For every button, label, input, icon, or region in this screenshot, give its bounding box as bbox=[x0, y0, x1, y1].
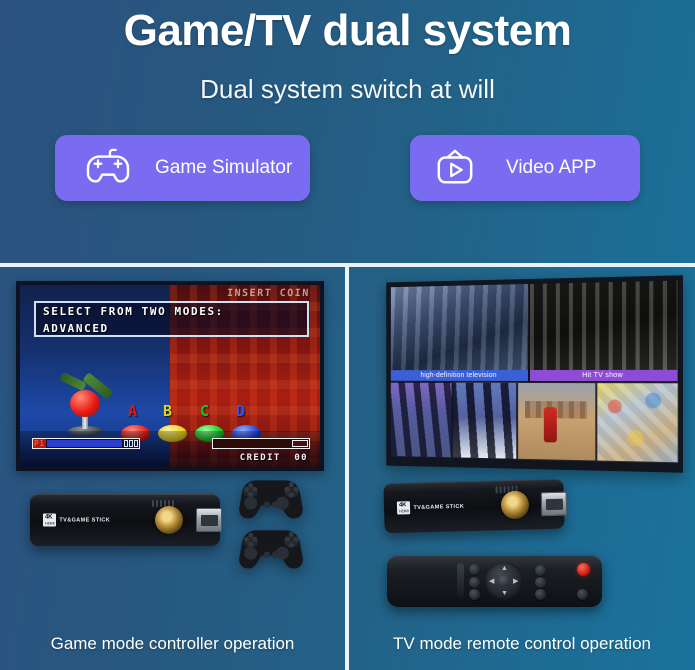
remote-key-apps bbox=[535, 589, 546, 600]
arcade-letter-c: C bbox=[200, 402, 209, 420]
game-tv-stick-device: 4K HDMI TV&GAME STICK bbox=[30, 494, 220, 546]
credit-text: CREDIT 00 bbox=[240, 453, 308, 463]
remote-key-mic bbox=[469, 564, 480, 575]
tile-dance-show-2 bbox=[452, 382, 517, 460]
dpad-left-arrow: ◀ bbox=[489, 578, 494, 585]
stick-model-name: TV&GAME STICK bbox=[413, 503, 464, 510]
arcade-hud: P1 CREDIT 00 bbox=[20, 431, 320, 467]
page-subtitle: Dual system switch at will bbox=[0, 74, 695, 105]
dpad-up-arrow: ▲ bbox=[501, 565, 508, 572]
player-health-bar: P1 bbox=[32, 438, 140, 449]
credit-bar bbox=[212, 438, 310, 449]
tile-label-hit-tv-show: Hit TV show bbox=[530, 370, 678, 381]
tv-play-icon bbox=[432, 148, 478, 188]
video-app-button[interactable]: Video APP bbox=[410, 135, 640, 201]
resolution-badge: 4K HDMI bbox=[43, 514, 56, 527]
tile-high-definition-television: high-definition television bbox=[390, 283, 529, 382]
arcade-letter-d: D bbox=[236, 402, 245, 420]
joystick-ball bbox=[70, 390, 100, 417]
stick-badge: 4K HDMI TV&GAME STICK bbox=[43, 514, 110, 527]
flat-tv-screen: high-definition television Hit TV show bbox=[386, 275, 683, 472]
tv-remote-control: ▲ ◀ ▶ ▼ bbox=[387, 555, 602, 607]
game-panel-caption: Game mode controller operation bbox=[0, 634, 345, 654]
tv-panel-caption: TV mode remote control operation bbox=[349, 634, 695, 654]
mode-select-line-2: ADVANCED bbox=[36, 320, 307, 337]
badge-bottom-text: HDMI bbox=[45, 522, 54, 526]
stick-lens bbox=[501, 491, 530, 520]
power-button-icon bbox=[577, 563, 590, 576]
tv-mode-panel: high-definition television Hit TV show 4… bbox=[349, 267, 695, 670]
dpad-down-arrow: ▼ bbox=[501, 590, 508, 597]
wireless-controller-2 bbox=[232, 525, 310, 573]
remote-key-settings bbox=[577, 589, 588, 600]
gamepad-icon bbox=[85, 148, 131, 188]
player-health-ticks bbox=[124, 440, 138, 447]
stick-lens bbox=[155, 506, 183, 534]
tile-hit-tv-show: Hit TV show bbox=[529, 280, 679, 383]
hdmi-connector bbox=[196, 508, 222, 532]
stick-badge: 4K HDMI TV&GAME STICK bbox=[397, 500, 464, 515]
video-app-label: Video APP bbox=[506, 157, 597, 179]
arcade-letter-b: B bbox=[163, 402, 172, 420]
badge-bottom-text: HDMI bbox=[399, 509, 409, 513]
tile-art-graffiti bbox=[596, 382, 679, 463]
tv-stick-device: 4K HDMI TV&GAME STICK bbox=[383, 479, 564, 534]
game-mode-panel: INSERT COIN SELECT FROM TWO MODES: ADVAN… bbox=[0, 267, 345, 670]
game-simulator-button[interactable]: Game Simulator bbox=[55, 135, 310, 201]
tile-basketball-game bbox=[517, 382, 596, 461]
credit-value: 00 bbox=[294, 453, 308, 463]
tile-label-hdtv: high-definition television bbox=[391, 370, 528, 381]
arcade-letter-a: A bbox=[128, 402, 137, 420]
game-simulator-label: Game Simulator bbox=[155, 157, 292, 179]
remote-key-power-toggle bbox=[469, 589, 480, 600]
remote-key-back bbox=[535, 577, 546, 588]
wireless-controller-1 bbox=[232, 475, 310, 523]
player-health-fill bbox=[47, 440, 122, 447]
tile-dance-show-1 bbox=[390, 382, 452, 458]
remote-key-home bbox=[535, 565, 546, 576]
hdmi-connector bbox=[541, 492, 568, 517]
header: Game/TV dual system Dual system switch a… bbox=[0, 0, 695, 105]
player-label: P1 bbox=[33, 439, 46, 448]
remote-key-menu bbox=[469, 577, 480, 588]
mode-select-box: SELECT FROM TWO MODES: ADVANCED bbox=[34, 301, 309, 337]
credit-label: CREDIT bbox=[240, 453, 281, 463]
dpad-icon: ▲ ◀ ▶ ▼ bbox=[485, 562, 523, 600]
dpad-right-arrow: ▶ bbox=[513, 578, 518, 585]
mode-button-row: Game Simulator Video APP bbox=[0, 135, 695, 201]
arcade-game-screen: INSERT COIN SELECT FROM TWO MODES: ADVAN… bbox=[16, 281, 324, 471]
volume-rocker bbox=[457, 563, 464, 599]
stick-model-name: TV&GAME STICK bbox=[59, 517, 110, 523]
resolution-badge: 4K HDMI bbox=[397, 501, 411, 514]
insert-coin-text: INSERT COIN bbox=[227, 288, 310, 299]
mode-select-line-1: SELECT FROM TWO MODES: bbox=[36, 303, 307, 320]
dpad-ok-button bbox=[498, 575, 510, 587]
page-title: Game/TV dual system bbox=[0, 8, 695, 54]
